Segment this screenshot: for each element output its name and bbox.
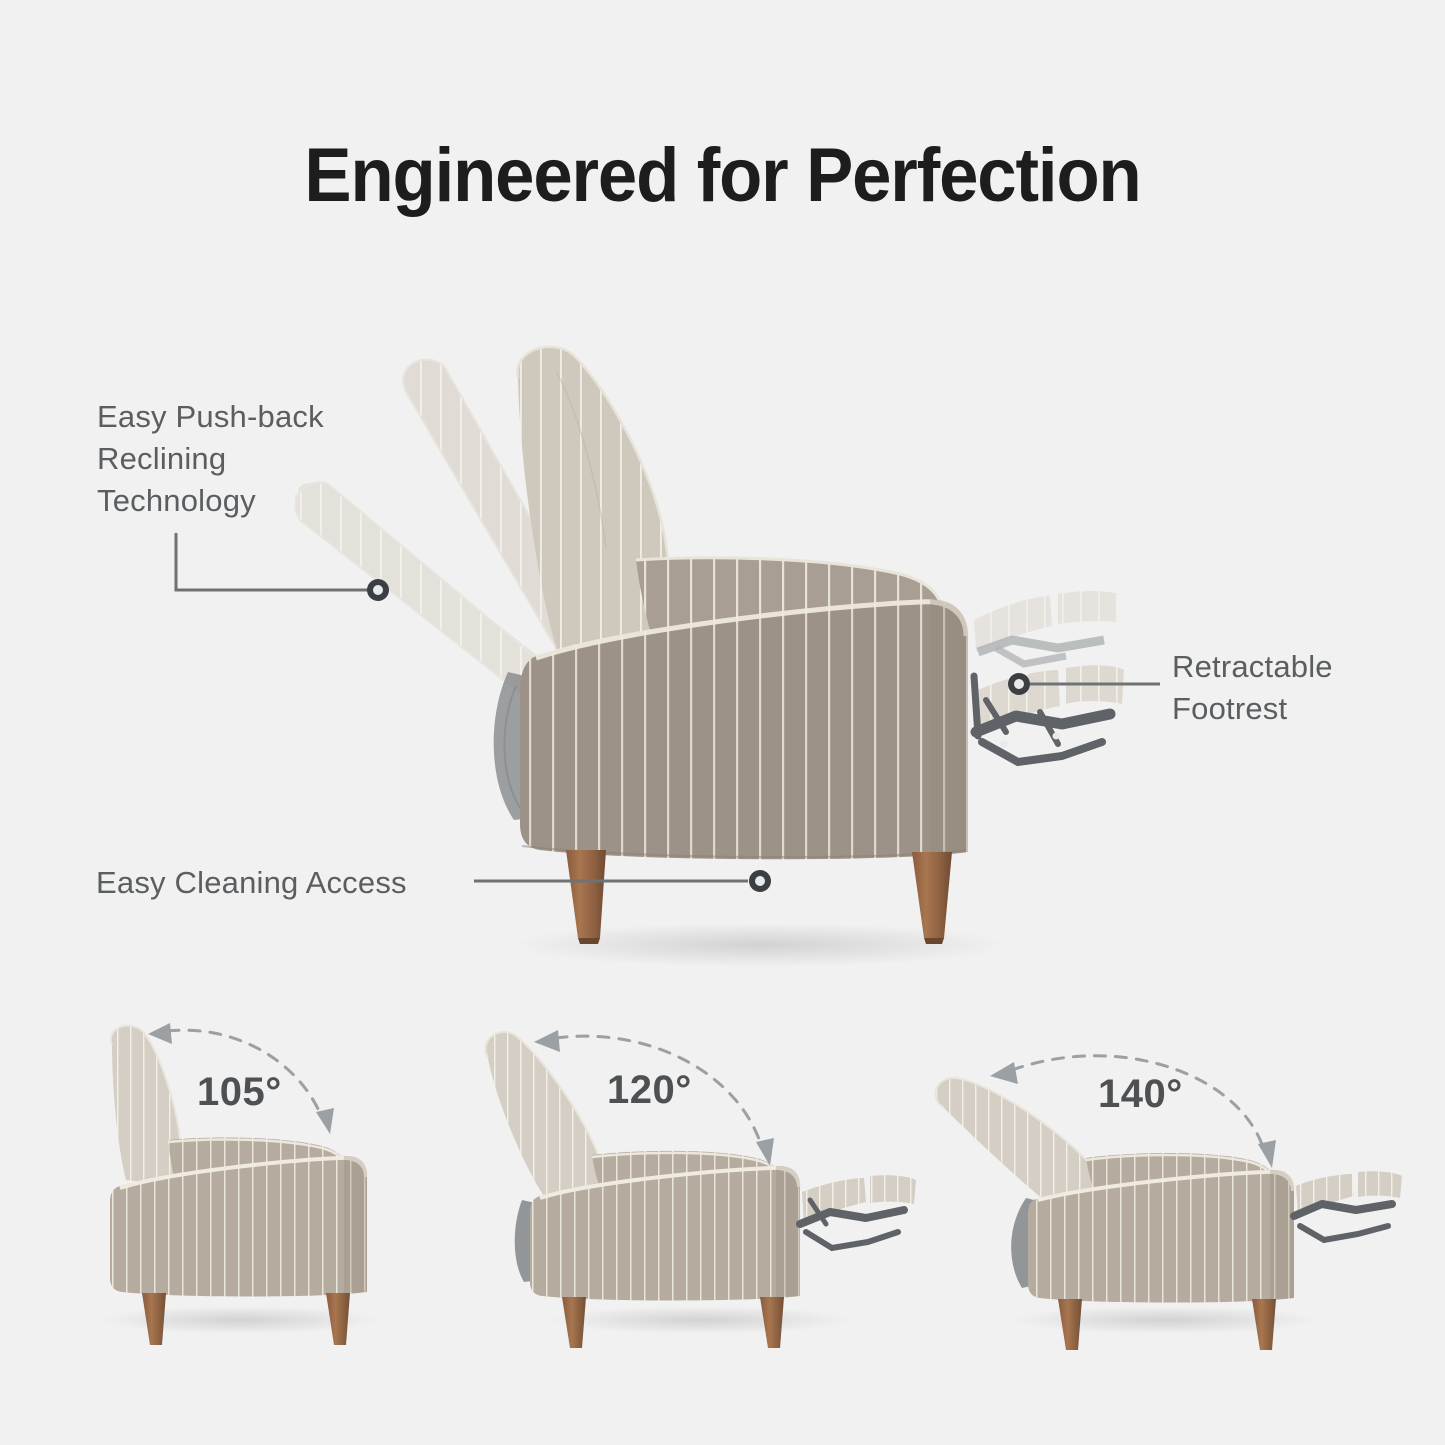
chair-leg-back [566,850,606,944]
angle-label-120: 120° [607,1068,692,1113]
callout-easy-cleaning-access: Easy Cleaning Access [96,862,407,904]
callout-easy-push-back-reclining-technology: Easy Push-back Reclining Technology [97,396,324,522]
footrest-ghost [974,591,1118,664]
footrest-120 [800,1175,916,1248]
infographic-canvas: Engineered for Perfection [0,0,1445,1445]
angle-label-140: 140° [1098,1072,1183,1117]
recline-panel-120 [485,1030,916,1348]
footrest-140 [1294,1171,1402,1240]
angle-label-105: 105° [197,1070,282,1115]
footrest-extended [974,665,1124,762]
callout-retractable-footrest: Retractable Footrest [1172,646,1333,730]
leader-easy-cleaning [474,870,771,892]
backrest-main [517,347,669,672]
